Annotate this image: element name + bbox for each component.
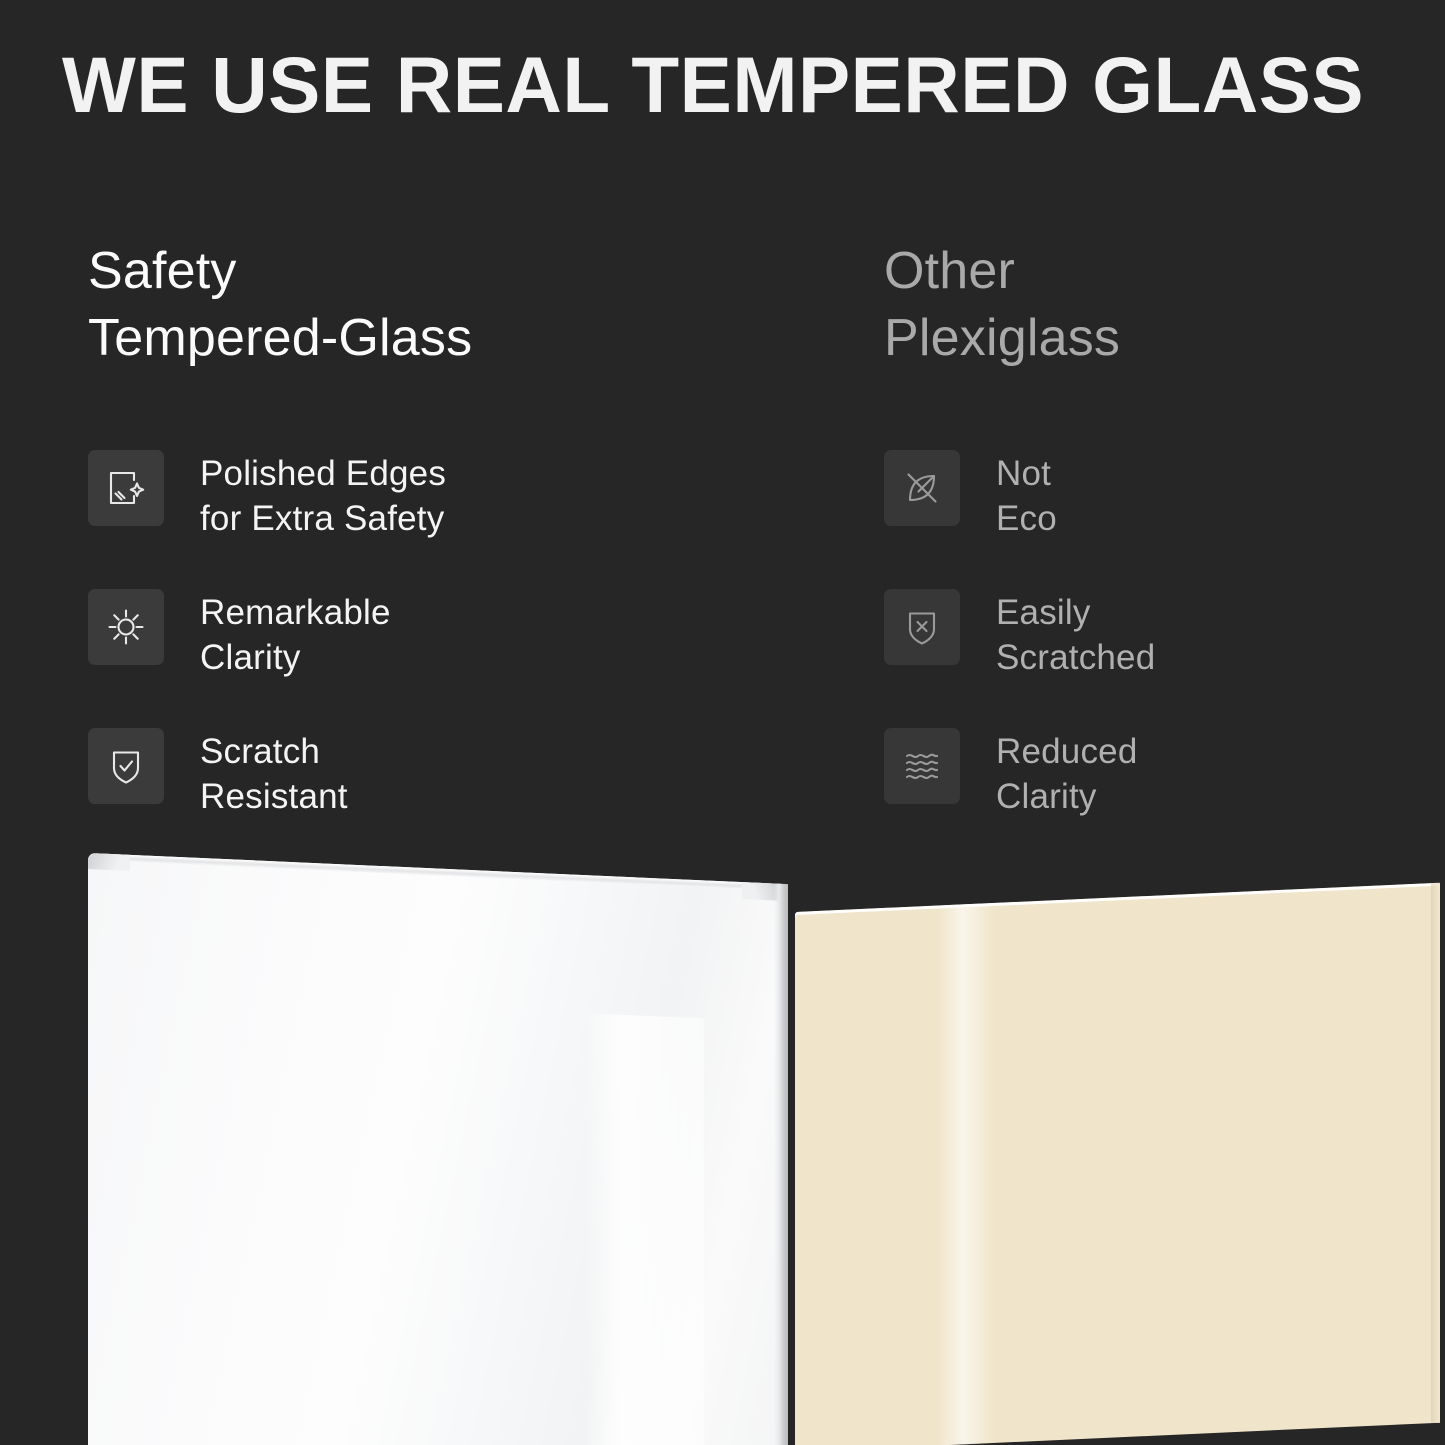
- leaf-slashed-icon: [884, 450, 960, 526]
- feature-list-right: Not Eco Easily Scratched Reduced Cla: [884, 448, 1424, 819]
- polished-glass-sparkle-icon: [88, 450, 164, 526]
- product-photo: [0, 848, 1445, 1445]
- page-title: WE USE REAL TEMPERED GLASS: [62, 44, 1379, 126]
- wavy-lines-icon: [884, 728, 960, 804]
- feature-item-scratch-resistant: Scratch Resistant: [88, 726, 848, 819]
- plexiglass-right-edge: [1431, 883, 1440, 1423]
- column-other-plexiglass: Other Plexiglass Not Eco Easily Scratche…: [884, 238, 1424, 372]
- glass-corner-top-left: [88, 853, 130, 871]
- feature-item-polished-edges: Polished Edges for Extra Safety: [88, 448, 848, 541]
- feature-label: Scratch Resistant: [200, 726, 348, 819]
- sun-brightness-icon: [88, 589, 164, 665]
- column-heading-right: Other Plexiglass: [884, 238, 1424, 372]
- tempered-glass-panel: [88, 853, 788, 1445]
- glass-polished-right-edge: [774, 884, 788, 1445]
- feature-label: Reduced Clarity: [996, 726, 1138, 819]
- column-heading-left: Safety Tempered-Glass: [88, 238, 848, 372]
- column-safety-tempered-glass: Safety Tempered-Glass Polished Edges for…: [88, 238, 848, 372]
- feature-label: Remarkable Clarity: [200, 587, 391, 680]
- feature-list-left: Polished Edges for Extra Safety Remarkab…: [88, 448, 848, 819]
- plexiglass-panel: [795, 883, 1440, 1445]
- feature-label: Not Eco: [996, 448, 1057, 541]
- glass-reflection: [585, 1013, 704, 1445]
- feature-label: Polished Edges for Extra Safety: [200, 448, 446, 541]
- feature-item-remarkable-clarity: Remarkable Clarity: [88, 587, 848, 680]
- feature-item-reduced-clarity: Reduced Clarity: [884, 726, 1424, 819]
- shield-x-icon: [884, 589, 960, 665]
- glass-polished-top-edge: [88, 853, 788, 891]
- feature-item-easily-scratched: Easily Scratched: [884, 587, 1424, 680]
- feature-item-not-eco: Not Eco: [884, 448, 1424, 541]
- plexiglass-sheen: [937, 903, 995, 1445]
- shield-check-icon: [88, 728, 164, 804]
- feature-label: Easily Scratched: [996, 587, 1155, 680]
